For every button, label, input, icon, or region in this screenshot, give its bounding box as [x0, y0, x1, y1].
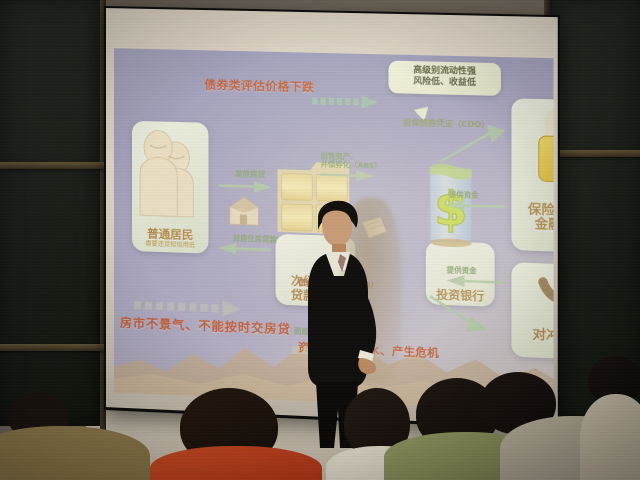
chalk-rail-right — [550, 150, 640, 157]
chalkboard-left — [0, 0, 104, 426]
audience-left-tan-coat — [0, 392, 160, 480]
audience-orange-jacket — [156, 388, 326, 480]
audience-garment — [580, 394, 640, 480]
chalk-rail-lower-left — [0, 344, 104, 351]
audience-garment — [0, 426, 150, 480]
audience-far-right-tall — [588, 356, 640, 480]
lecture-hall-photo: 普通居民 需要还贷担信用低 次级抵押 贷款公司 — [0, 0, 640, 480]
chalk-rail-upper-left — [0, 162, 104, 169]
audience-garment — [150, 446, 322, 480]
